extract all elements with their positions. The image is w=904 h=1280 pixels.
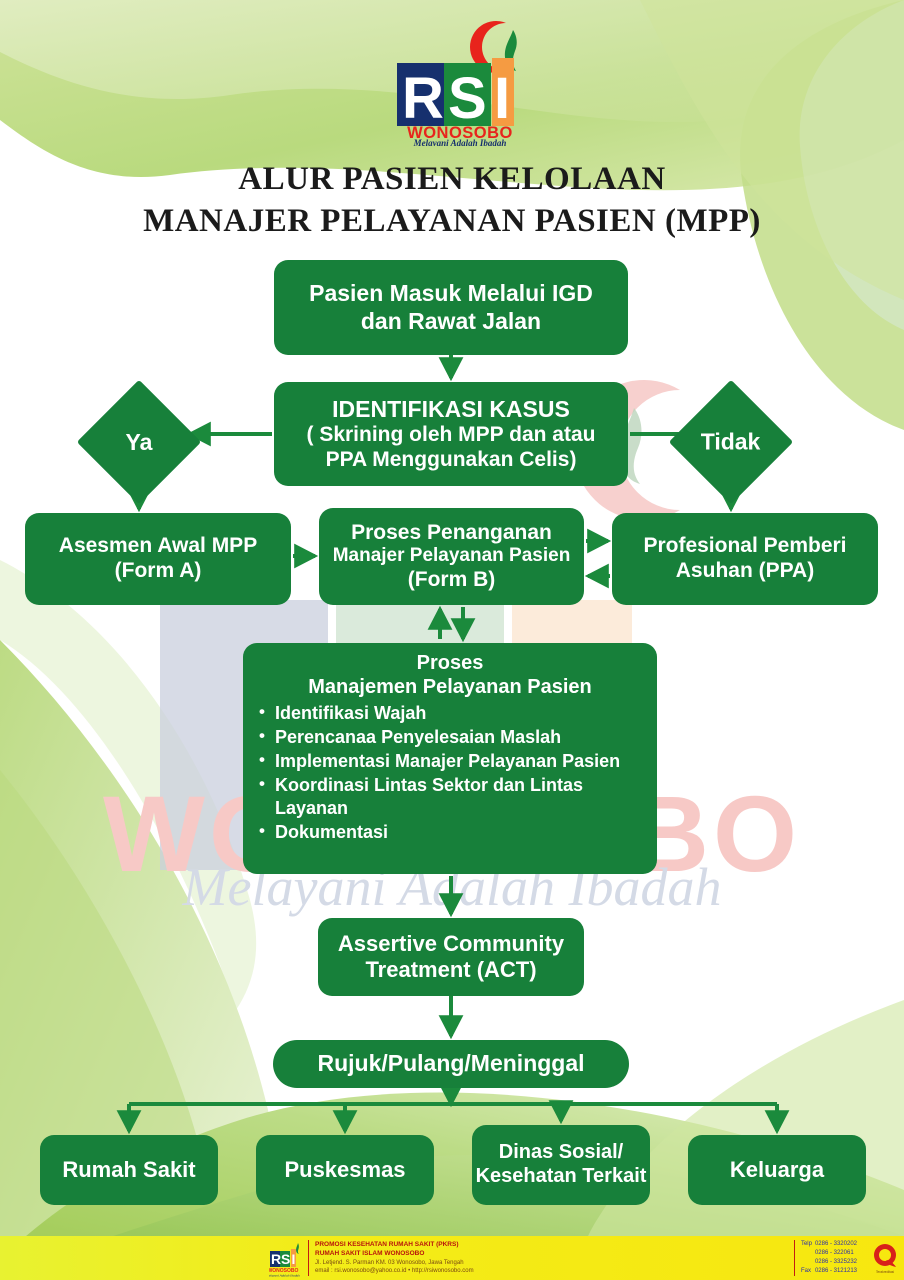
node-line: Treatment (ACT)	[365, 957, 536, 983]
footer-org-line2: RUMAH SAKIT ISLAM WONOSOBO	[315, 1249, 474, 1258]
node-heading: Proses Manajemen Pelayanan Pasien	[257, 651, 643, 699]
node-rumah-sakit[interactable]: Rumah Sakit	[40, 1135, 218, 1205]
node-proses-penanganan-form-b[interactable]: Proses Penanganan Manajer Pelayanan Pasi…	[319, 508, 584, 605]
node-bullet-list: Identifikasi Wajah Perencanaa Penyelesai…	[257, 702, 643, 845]
footer-rsi-logo: R S I WONOSOBO Melayani Adalah Ibadah	[269, 1239, 303, 1277]
node-asesmen-awal-mpp[interactable]: Asesmen Awal MPP (Form A)	[25, 513, 291, 605]
node-puskesmas[interactable]: Puskesmas	[256, 1135, 434, 1205]
node-line: ( Skrining oleh MPP dan atau	[307, 423, 596, 448]
node-identifikasi-kasus[interactable]: IDENTIFIKASI KASUS ( Skrining oleh MPP d…	[274, 382, 628, 486]
poster-canvas: WONOSOBO Melayani Adalah Ibadah R S I WO…	[0, 0, 904, 1280]
node-line: IDENTIFIKASI KASUS	[332, 396, 570, 423]
node-line: Pasien Masuk Melalui IGD	[309, 280, 593, 307]
svg-text:I: I	[292, 1251, 296, 1267]
footer-org-line1: PROMOSI KESEHATAN RUMAH SAKIT (PKRS)	[315, 1240, 474, 1249]
footer-tel-spacer	[801, 1258, 815, 1267]
node-line: PPA Menggunakan Celis)	[326, 448, 577, 473]
node-line: Puskesmas	[284, 1157, 405, 1183]
node-assertive-community-treatment[interactable]: Assertive Community Treatment (ACT)	[318, 918, 584, 996]
footer-tel-spacer	[801, 1249, 815, 1258]
bullet-item: Implementasi Manajer Pelayanan Pasien	[257, 750, 643, 773]
footer-address: Jl. Letjend. S. Parman KM. 03 Wonosobo, …	[315, 1259, 474, 1268]
node-line: (Form B)	[408, 568, 496, 593]
footer-contact-web: email : rsi.wonosobo@yahoo.co.id • http:…	[315, 1267, 474, 1276]
footer-content: R S I WONOSOBO Melayani Adalah Ibadah PR…	[265, 1236, 904, 1280]
svg-text:R: R	[271, 1251, 281, 1267]
flowchart-connectors	[0, 0, 904, 1280]
node-line: Keluarga	[730, 1157, 824, 1183]
node-line: Manajemen Pelayanan Pasien	[257, 675, 643, 699]
node-dinas-sosial-kesehatan[interactable]: Dinas Sosial/ Kesehatan Terkait	[472, 1125, 650, 1205]
bullet-item: Identifikasi Wajah	[257, 702, 643, 725]
node-line: dan Rawat Jalan	[361, 308, 541, 335]
bullet-item: Dokumentasi	[257, 821, 643, 844]
node-keluarga[interactable]: Keluarga	[688, 1135, 866, 1205]
node-line: Rumah Sakit	[62, 1157, 195, 1183]
footer-tel-1: 0286 - 3320202	[815, 1240, 860, 1249]
node-line: Asesmen Awal MPP	[59, 534, 257, 559]
node-line: Dinas Sosial/	[499, 1141, 624, 1165]
footer-tel-2: 0286 - 322061	[815, 1249, 860, 1258]
node-line: Rujuk/Pulang/Meninggal	[317, 1050, 584, 1077]
bullet-item: Koordinasi Lintas Sektor dan Lintas Laya…	[257, 774, 643, 820]
footer-fax-label: Fax	[801, 1267, 815, 1276]
footer-phone-block: Telp 0286 - 3320202 0286 - 322061 0286 -…	[794, 1240, 860, 1276]
footer-org-text: PROMOSI KESEHATAN RUMAH SAKIT (PKRS) RUM…	[308, 1240, 474, 1275]
footer-fax-number: 0286 - 3121213	[815, 1267, 860, 1276]
node-line: Asuhan (PPA)	[676, 559, 814, 584]
node-line: Proses	[257, 651, 643, 675]
footer-bar: R S I WONOSOBO Melayani Adalah Ibadah PR…	[0, 1236, 904, 1280]
decision-label: Ya	[126, 429, 153, 456]
footer-tel-label: Telp	[801, 1240, 815, 1249]
node-profesional-pemberi-asuhan[interactable]: Profesional Pemberi Asuhan (PPA)	[612, 513, 878, 605]
node-rujuk-pulang-meninggal[interactable]: Rujuk/Pulang/Meninggal	[273, 1040, 629, 1088]
node-proses-manajemen-pelayanan-pasien[interactable]: Proses Manajemen Pelayanan Pasien Identi…	[243, 643, 657, 874]
bullet-item: Perencanaa Penyelesaian Maslah	[257, 726, 643, 749]
node-line: Assertive Community	[338, 931, 564, 957]
node-line: Proses Penanganan	[351, 521, 552, 546]
footer-logo-tagline: Melayani Adalah Ibadah	[269, 1274, 300, 1278]
footer-tel-3: 0286 - 3325232	[815, 1258, 860, 1267]
svg-text:S: S	[281, 1251, 290, 1267]
node-line: Profesional Pemberi	[643, 534, 846, 559]
node-line: (Form A)	[115, 559, 202, 584]
accreditation-q-icon: Terakreditasi	[870, 1241, 900, 1275]
node-pasien-masuk[interactable]: Pasien Masuk Melalui IGD dan Rawat Jalan	[274, 260, 628, 355]
accreditation-caption: Terakreditasi	[876, 1270, 894, 1274]
node-line: Kesehatan Terkait	[476, 1165, 647, 1189]
decision-label: Tidak	[701, 429, 761, 456]
node-line: Manajer Pelayanan Pasien	[333, 545, 571, 567]
